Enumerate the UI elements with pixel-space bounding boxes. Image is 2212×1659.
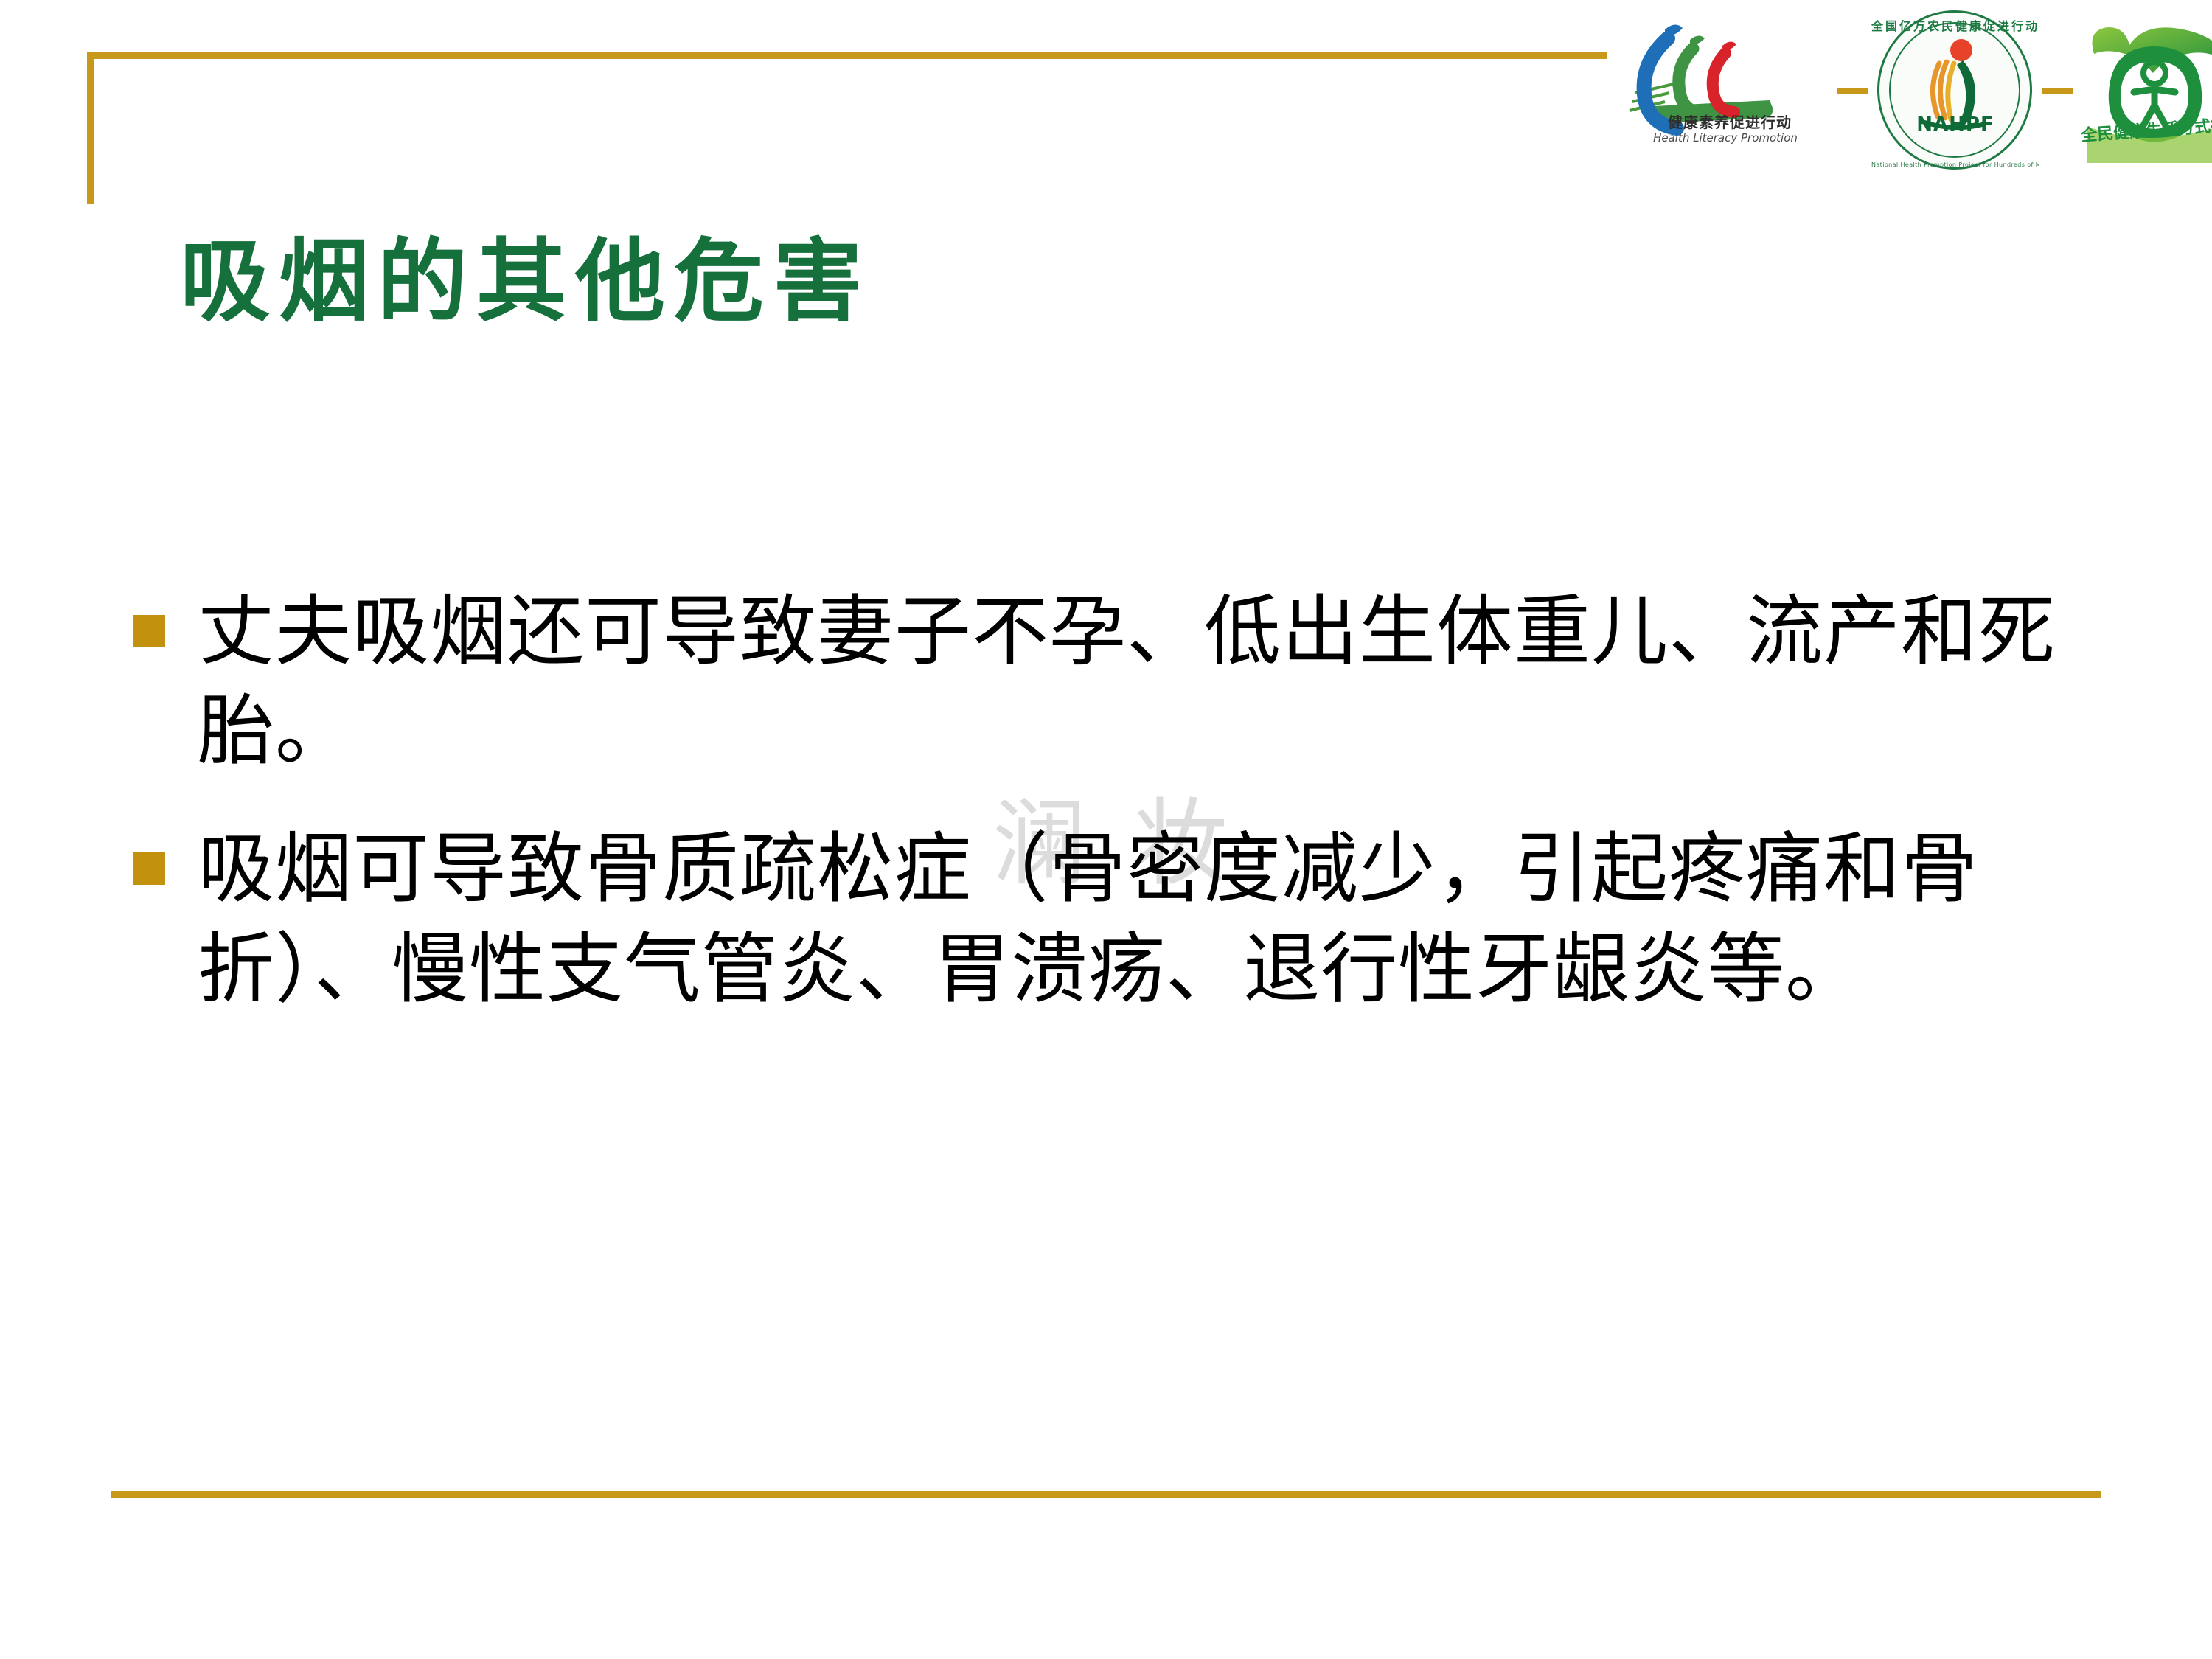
bottom-gold-rule	[111, 1491, 2101, 1498]
list-item-text: 吸烟可导致骨质疏松症（骨密度减少，引起疼痛和骨折）、慢性支气管炎、胃溃疡、退行性…	[198, 820, 2109, 1019]
page-title: 吸烟的其他危害	[180, 236, 872, 330]
seal-ring-text-en: National Health Promotion Project for Hu…	[1871, 161, 2039, 168]
bullet-list: 丈夫吸烟还可导致妻子不孕、低出生体重儿、流产和死胎。 吸烟可导致骨质疏松症（骨密…	[133, 582, 2109, 1058]
seal-ring-text-cn: 全国亿万农民健康促进行动	[1871, 16, 2039, 34]
logo-separator-dash-1	[1837, 88, 1868, 94]
square-bullet-icon	[133, 852, 165, 885]
national-healthy-lifestyle-logo: 全民健康生活方式行动	[2076, 15, 2212, 167]
square-bullet-icon	[133, 615, 165, 647]
seal-acronym: NAHPF	[1871, 114, 2039, 136]
list-item: 吸烟可导致骨质疏松症（骨密度减少，引起疼痛和骨折）、慢性支气管炎、胃溃疡、退行性…	[133, 820, 2109, 1019]
list-item-text: 丈夫吸烟还可导致妻子不孕、低出生体重儿、流产和死胎。	[198, 582, 2109, 782]
running-figures-icon	[1622, 13, 1834, 168]
nahpf-seal-logo: 全国亿万农民健康促进行动 NAHPF National Health Promo…	[1871, 9, 2039, 173]
presentation-slide: 健康素养促进行动 Health Literacy Promotion 全国亿万农…	[0, 0, 2212, 1659]
list-item: 丈夫吸烟还可导致妻子不孕、低出生体重儿、流产和死胎。	[133, 582, 2109, 782]
logo1-caption-cn: 健康素养促进行动	[1668, 111, 1777, 132]
logo1-caption-en: Health Literacy Promotion	[1652, 131, 1799, 145]
logo-band: 健康素养促进行动 Health Literacy Promotion 全国亿万农…	[1622, 6, 2205, 175]
left-gold-rule	[87, 52, 94, 204]
logo-separator-dash-2	[2042, 88, 2073, 94]
health-literacy-promotion-logo: 健康素养促进行动 Health Literacy Promotion	[1622, 13, 1834, 168]
top-gold-rule	[87, 52, 1607, 59]
